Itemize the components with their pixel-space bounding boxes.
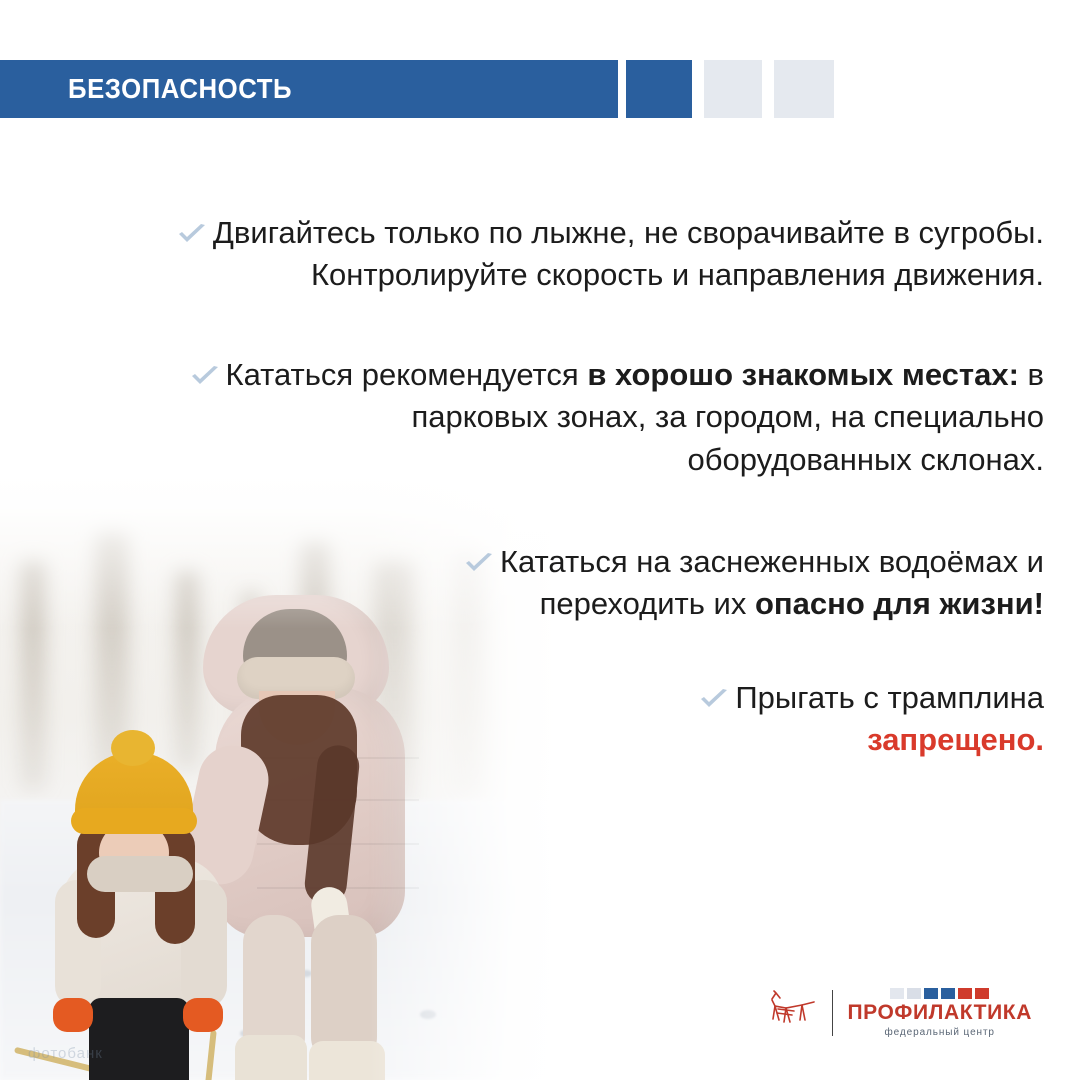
page-title: БЕЗОПАСНОСТЬ [68,73,292,105]
check-icon [177,214,207,236]
flag-square [907,988,921,999]
header-bar: БЕЗОПАСНОСТЬ [0,60,618,118]
snow-speck [420,1010,436,1019]
bullet-list: Двигайтесь только по лыжне, не сворачива… [144,212,1044,803]
adult-boot [235,1035,307,1080]
ski-pole [199,1030,216,1080]
check-icon [699,679,729,701]
child-snow-pants [89,998,189,1080]
flag-square [890,988,904,999]
logo-subtitle: федеральный центр [847,1027,1032,1038]
logo-divider [832,990,833,1036]
list-item-text: Двигайтесь только по лыжне, не сворачива… [213,215,1044,292]
blurred-tree [20,560,46,790]
child-hat-brim [71,808,197,834]
photo-watermark: фотобанк [28,1045,103,1062]
logo-text-block: ПРОФИЛАКТИКА федеральный центр [847,988,1032,1038]
flag-square [941,988,955,999]
flag-square [958,988,972,999]
header-accent-square-gray-2 [774,60,834,118]
poster-root: БЕЗОПАСНОСТЬ [0,0,1080,1080]
child-collar [87,856,193,892]
list-item: Кататься рекомендуется в хорошо знакомых… [144,354,1044,480]
child-orange-glove [53,998,93,1032]
list-item: Двигайтесь только по лыжне, не сворачива… [144,212,1044,296]
list-item-text: Кататься рекомендуется в хорошо знакомых… [226,357,1044,476]
logo-name: ПРОФИЛАКТИКА [847,1001,1032,1024]
deer-icon [764,989,818,1037]
list-item-text: Прыгать с трамплина запрещено. [735,680,1044,757]
check-icon [190,356,220,378]
organization-logo: ПРОФИЛАКТИКА федеральный центр [764,988,1032,1038]
logo-flag-squares [847,988,1032,999]
header: БЕЗОПАСНОСТЬ [0,60,1080,118]
list-item: Прыгать с трамплина запрещено. [144,677,1044,761]
list-item-text: Кататься на заснеженных водоёмах и перех… [500,544,1044,621]
header-accent-square-gray-1 [704,60,762,118]
list-item: Кататься на заснеженных водоёмах и перех… [144,541,1044,625]
header-accent-square-blue [626,60,692,118]
flag-square [975,988,989,999]
child-orange-glove [183,998,223,1032]
adult-boot [309,1041,385,1080]
check-icon [464,543,494,565]
flag-square [924,988,938,999]
